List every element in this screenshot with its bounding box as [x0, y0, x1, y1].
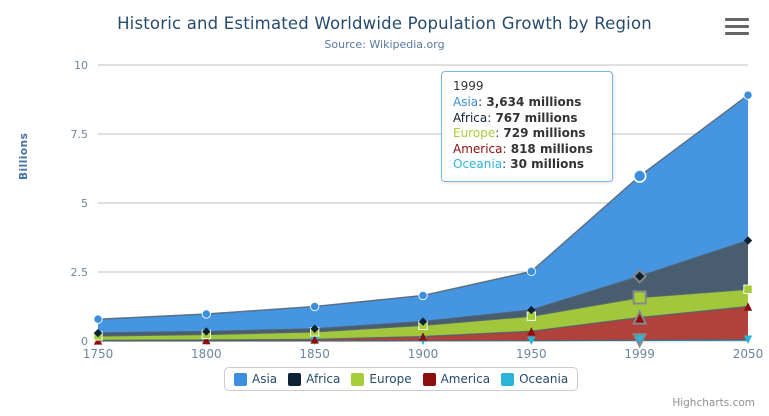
- highcharts-credit[interactable]: Highcharts.com: [672, 397, 755, 409]
- data-point-asia[interactable]: [310, 302, 318, 310]
- x-axis-tick-label: 1800: [191, 347, 222, 361]
- legend-swatch-icon: [234, 373, 247, 386]
- data-point-asia[interactable]: [202, 310, 210, 318]
- tooltip-rows: Asia: 3,634 millionsAfrica: 767 millions…: [453, 95, 603, 173]
- tooltip-series-value: 30 millions: [506, 157, 584, 171]
- tooltip-row: Oceania: 30 millions: [453, 157, 603, 173]
- x-axis-tick-label: 1999: [624, 347, 655, 361]
- tooltip-series-value: 729 millions: [499, 126, 585, 140]
- legend-item-label: Asia: [252, 372, 277, 386]
- x-axis-tick-label: 1900: [408, 347, 439, 361]
- legend-item-label: Africa: [306, 372, 340, 386]
- data-point-asia[interactable]: [634, 170, 646, 182]
- tooltip-series-name: Asia: [453, 95, 478, 109]
- legend-item-oceania[interactable]: Oceania: [501, 372, 568, 386]
- tooltip-series-value: 818 millions: [507, 142, 593, 156]
- tooltip-series-name: Oceania: [453, 157, 502, 171]
- tooltip: 1999 Asia: 3,634 millionsAfrica: 767 mil…: [441, 71, 613, 182]
- data-point-europe[interactable]: [634, 291, 646, 303]
- data-point-asia[interactable]: [419, 291, 427, 299]
- data-point-asia[interactable]: [527, 267, 535, 275]
- legend-item-label: Oceania: [519, 372, 568, 386]
- x-axis-tick-label: 1850: [299, 347, 330, 361]
- tooltip-row: Africa: 767 millions: [453, 111, 603, 127]
- chart-container: Historic and Estimated Worldwide Populat…: [0, 0, 769, 416]
- legend-item-label: America: [441, 372, 491, 386]
- legend-swatch-icon: [501, 373, 514, 386]
- tooltip-series-name: Europe: [453, 126, 495, 140]
- legend-swatch-icon: [423, 373, 436, 386]
- x-axis-tick-label: 1950: [516, 347, 547, 361]
- tooltip-series-value: 767 millions: [491, 111, 577, 125]
- y-axis-tick-label: 2.5: [71, 266, 89, 279]
- y-axis-tick-label: 5: [81, 197, 88, 210]
- y-axis-tick-label: 7.5: [71, 128, 89, 141]
- tooltip-row: Asia: 3,634 millions: [453, 95, 603, 111]
- tooltip-row: Europe: 729 millions: [453, 126, 603, 142]
- x-axis-tick-label: 2050: [733, 347, 764, 361]
- y-axis-tick-label: 10: [74, 59, 88, 72]
- data-point-asia[interactable]: [94, 315, 102, 323]
- tooltip-series-name: Africa: [453, 111, 487, 125]
- x-axis-tick-label: 1750: [83, 347, 114, 361]
- data-point-europe[interactable]: [744, 285, 752, 293]
- x-axis-ticks: 1750180018501900195019992050: [83, 347, 764, 361]
- tooltip-series-name: America: [453, 142, 503, 156]
- legend-item-america[interactable]: America: [423, 372, 491, 386]
- legend: AsiaAfricaEuropeAmericaOceania: [224, 367, 578, 391]
- legend-item-africa[interactable]: Africa: [288, 372, 340, 386]
- legend-swatch-icon: [351, 373, 364, 386]
- plot-area: 02.557.510 1750180018501900195019992050: [0, 0, 769, 416]
- data-point-asia[interactable]: [744, 91, 752, 99]
- legend-item-europe[interactable]: Europe: [351, 372, 411, 386]
- legend-item-asia[interactable]: Asia: [234, 372, 277, 386]
- legend-swatch-icon: [288, 373, 301, 386]
- tooltip-header: 1999: [453, 79, 603, 93]
- y-axis-ticks: 02.557.510: [71, 59, 89, 348]
- legend-item-label: Europe: [369, 372, 411, 386]
- tooltip-row: America: 818 millions: [453, 142, 603, 158]
- tooltip-series-value: 3,634 millions: [482, 95, 581, 109]
- area-series-layer: [98, 95, 748, 341]
